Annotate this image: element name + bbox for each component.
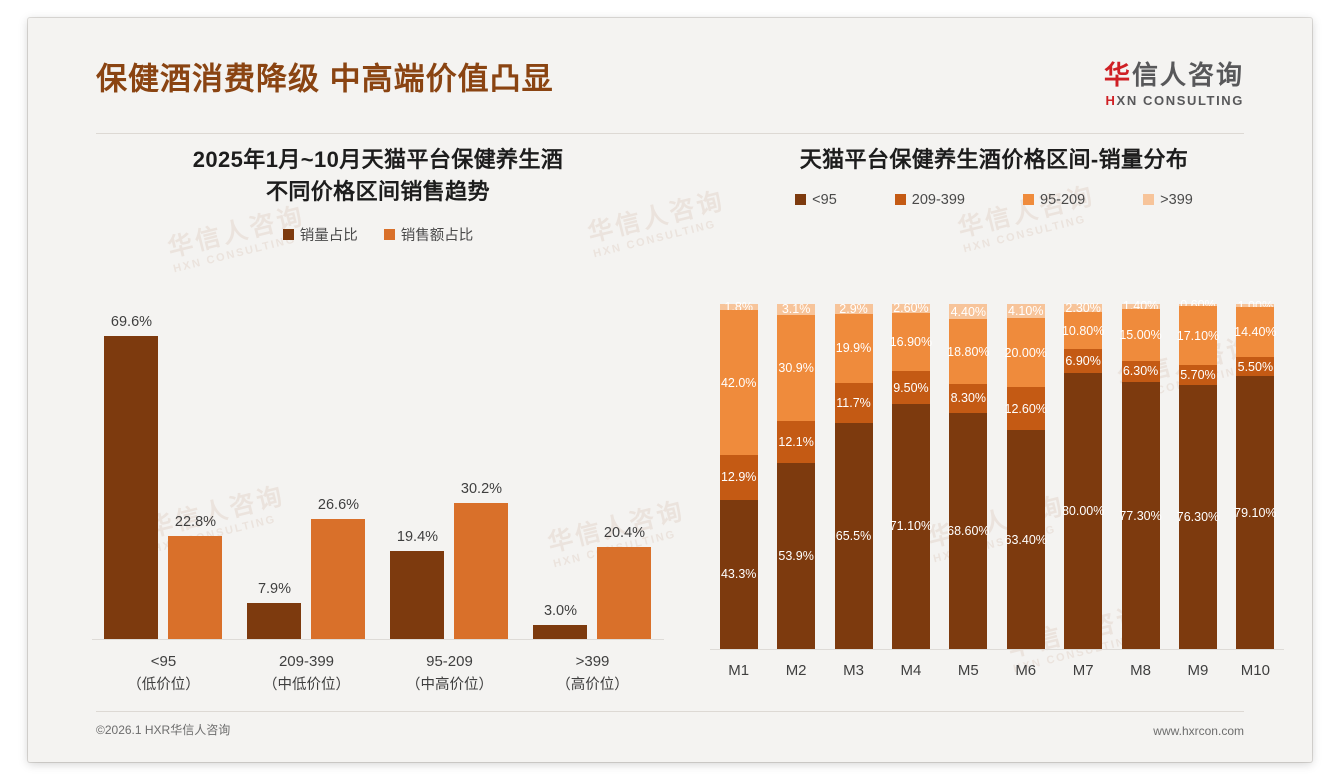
logo-chinese: 华信人咨询 [1104,62,1244,89]
x-axis-tick-label: M4 [882,662,939,704]
company-logo: 华信人咨询 HXN CONSULTING [1104,62,1244,108]
stacked-bar-segment[interactable]: 10.80% [1064,312,1102,349]
bar-column[interactable]: 3.0% [533,314,587,639]
logo-char-hua: 华 [1104,60,1132,90]
bar-value-label: 7.9% [258,581,291,597]
bar-column[interactable]: 26.6% [311,314,365,639]
stacked-bar-segment[interactable]: 9.50% [892,371,930,404]
stacked-bar[interactable]: 1.00%14.40%5.50%79.10% [1236,304,1274,649]
x-axis-tick-label: M9 [1169,662,1226,704]
bar-value-label: 20.4% [604,525,645,541]
stacked-bar-column[interactable]: 0.60%17.10%5.70%76.30% [1169,304,1226,649]
stacked-bar[interactable]: 4.40%18.80%8.30%68.60% [949,304,987,649]
legend-label: 销量占比 [300,224,358,245]
logo-chars-rest: 信人咨询 [1132,60,1244,90]
grouped-bar-chart: 69.6%22.8%7.9%26.6%19.4%30.2%3.0%20.4% <… [76,314,680,704]
stacked-bar-segment[interactable]: 71.10% [892,404,930,649]
stacked-bar-column[interactable]: 1.40%15.00%6.30%77.30% [1112,304,1169,649]
bar-value-label: 69.6% [111,314,152,330]
x-axis-tick-main: <95 [151,653,176,670]
stacked-bar-segment[interactable]: 63.40% [1007,430,1045,649]
bar-column[interactable]: 20.4% [597,314,651,639]
x-axis-tick-sub: （中低价位） [241,674,373,697]
stacked-bar-segment[interactable]: 5.50% [1236,357,1274,376]
bar-group: 19.4%30.2% [384,314,516,639]
legend-item[interactable]: 销量占比 [283,224,358,245]
stacked-bar-segment[interactable]: 12.60% [1007,387,1045,430]
legend-label: 销售额占比 [401,224,474,245]
stacked-bar-column[interactable]: 2.60%16.90%9.50%71.10% [882,304,939,649]
right-chart-title: 天猫平台保健养生酒价格区间-销量分布 [694,144,1294,176]
x-axis-tick-main: 209-399 [279,653,334,670]
left-chart-title: 2025年1月~10月天猫平台保健养生酒 不同价格区间销售趋势 [68,144,688,208]
legend-swatch-icon [1143,194,1154,205]
stacked-bar[interactable]: 3.1%30.9%12.1%53.9% [777,304,815,649]
stacked-bar-column[interactable]: 2.30%10.80%6.90%80.00% [1054,304,1111,649]
stacked-bar-x-axis: M1M2M3M4M5M6M7M8M9M10 [710,650,1284,704]
stacked-bar-segment[interactable]: 5.70% [1179,365,1217,385]
stacked-bar[interactable]: 2.60%16.90%9.50%71.10% [892,304,930,649]
bar-value-label: 22.8% [175,514,216,530]
bar-column[interactable]: 19.4% [390,314,444,639]
chart-panel-right: 天猫平台保健养生酒价格区间-销量分布 <95209-39995-209>399 … [694,144,1294,704]
bar-value-label: 19.4% [397,529,438,545]
bar-column[interactable]: 30.2% [454,314,508,639]
legend-swatch-icon [895,194,906,205]
x-axis-tick-label: M8 [1112,662,1169,704]
stacked-bar[interactable]: 2.30%10.80%6.90%80.00% [1064,304,1102,649]
stacked-bar-segment[interactable]: 76.30% [1179,385,1217,649]
x-axis-tick-label: M5 [940,662,997,704]
stacked-bar-segment[interactable]: 80.00% [1064,373,1102,649]
stacked-bar-segment[interactable]: 19.9% [835,314,873,383]
stacked-bar-chart: 1.8%42.0%12.9%43.3%3.1%30.9%12.1%53.9%2.… [704,304,1290,704]
stacked-bar-segment[interactable]: 65.5% [835,423,873,649]
stacked-bar-segment[interactable]: 14.40% [1236,307,1274,357]
stacked-bar-segment[interactable]: 4.40% [949,304,987,319]
x-axis-tick-label: 209-399（中低价位） [241,650,373,704]
bar[interactable] [597,547,651,639]
stacked-bar-segment[interactable]: 16.90% [892,313,930,371]
stacked-bar-segment[interactable]: 3.1% [777,304,815,315]
x-axis-tick-label: M1 [710,662,767,704]
footer-divider [96,711,1244,712]
stacked-bar-column[interactable]: 4.40%18.80%8.30%68.60% [940,304,997,649]
grouped-bar-plot-area: 69.6%22.8%7.9%26.6%19.4%30.2%3.0%20.4% [92,314,664,640]
bar-column[interactable]: 22.8% [168,314,222,639]
stacked-bar[interactable]: 2.9%19.9%11.7%65.5% [835,304,873,649]
bar-group: 69.6%22.8% [98,314,230,639]
bar-column[interactable]: 69.6% [104,314,158,639]
x-axis-tick-label: M10 [1227,662,1284,704]
footer-website: www.hxrcon.com [1153,724,1244,738]
stacked-bar-segment[interactable]: 15.00% [1122,309,1160,361]
x-axis-tick-sub: （中高价位） [384,674,516,697]
x-axis-tick-sub: （高价位） [527,674,659,697]
legend-item[interactable]: 销售额占比 [384,224,474,245]
x-axis-tick-main: 95-209 [426,653,473,670]
legend-label: >399 [1160,192,1193,208]
bar[interactable] [168,536,222,639]
header-divider [96,133,1244,134]
stacked-bar-segment[interactable]: 68.60% [949,413,987,649]
legend-swatch-icon [795,194,806,205]
bar-column[interactable]: 7.9% [247,314,301,639]
stacked-bar-segment[interactable]: 2.9% [835,304,873,314]
legend-label: 95-209 [1040,192,1085,208]
stacked-bar-column[interactable]: 1.8%42.0%12.9%43.3% [710,304,767,649]
stacked-bar-segment[interactable]: 6.30% [1122,361,1160,383]
x-axis-tick-sub: （低价位） [98,674,230,697]
x-axis-tick-label: M6 [997,662,1054,704]
legend-item[interactable]: <95 [795,192,837,208]
bar[interactable] [533,625,587,639]
stacked-bar-column[interactable]: 3.1%30.9%12.1%53.9% [767,304,824,649]
stacked-bar[interactable]: 4.10%20.00%12.60%63.40% [1007,304,1045,649]
logo-en-h: H [1106,93,1117,108]
x-axis-tick-main: >399 [576,653,610,670]
stacked-bar-segment[interactable]: 20.00% [1007,318,1045,387]
legend-swatch-icon [1023,194,1034,205]
slide-canvas: 保健酒消费降级 中高端价值凸显 华信人咨询 HXN CONSULTING 华信人… [28,18,1312,762]
left-chart-title-line1: 2025年1月~10月天猫平台保健养生酒 [68,144,688,176]
stacked-bar[interactable]: 0.60%17.10%5.70%76.30% [1179,304,1217,649]
logo-en-rest: XN CONSULTING [1117,93,1244,108]
x-axis-tick-label: M3 [825,662,882,704]
bar-group: 7.9%26.6% [241,314,373,639]
bar-group: 3.0%20.4% [527,314,659,639]
stacked-bar[interactable]: 1.40%15.00%6.30%77.30% [1122,304,1160,649]
bar-value-label: 26.6% [318,497,359,513]
x-axis-tick-label: 95-209（中高价位） [384,650,516,704]
footer-copyright: ©2026.1 HXR华信人咨询 [96,721,230,738]
bar[interactable] [390,551,444,639]
stacked-bar-segment[interactable]: 79.10% [1236,376,1274,649]
slide-header: 保健酒消费降级 中高端价值凸显 华信人咨询 HXN CONSULTING [28,18,1312,118]
right-chart-legend: <95209-39995-209>399 [694,192,1294,208]
stacked-bar-segment[interactable]: 12.1% [777,421,815,463]
logo-english: HXN CONSULTING [1104,93,1244,108]
stacked-bar-segment[interactable]: 6.90% [1064,349,1102,373]
bar[interactable] [247,603,301,639]
stacked-bar-column[interactable]: 1.00%14.40%5.50%79.10% [1227,304,1284,649]
stacked-bar-segment[interactable]: 2.60% [892,304,930,313]
stacked-bar-segment[interactable]: 18.80% [949,319,987,384]
x-axis-tick-label: M7 [1054,662,1111,704]
grouped-bar-x-axis: <95（低价位）209-399（中低价位）95-209（中高价位）>399（高价… [92,640,664,704]
stacked-bar-column[interactable]: 4.10%20.00%12.60%63.40% [997,304,1054,649]
legend-swatch-icon [384,229,395,240]
stacked-bar-segment[interactable]: 8.30% [949,384,987,413]
stacked-bar-column[interactable]: 2.9%19.9%11.7%65.5% [825,304,882,649]
chart-panel-left: 2025年1月~10月天猫平台保健养生酒 不同价格区间销售趋势 销量占比销售额占… [68,144,688,704]
left-chart-title-line2: 不同价格区间销售趋势 [68,176,688,208]
legend-item[interactable]: 209-399 [895,192,965,208]
legend-label: 209-399 [912,192,965,208]
stacked-bar-segment[interactable]: 17.10% [1179,306,1217,365]
x-axis-tick-label: <95（低价位） [98,650,230,704]
x-axis-tick-label: >399（高价位） [527,650,659,704]
stacked-bar[interactable]: 1.8%42.0%12.9%43.3% [720,304,758,649]
page-title: 保健酒消费降级 中高端价值凸显 [96,54,554,99]
left-chart-legend: 销量占比销售额占比 [68,224,688,245]
stacked-bar-segment[interactable]: 77.30% [1122,382,1160,649]
stacked-bar-segment[interactable]: 43.3% [720,500,758,649]
bar[interactable] [104,336,158,639]
bar[interactable] [311,519,365,639]
stacked-bar-segment[interactable]: 11.7% [835,383,873,423]
bar-value-label: 3.0% [544,603,577,619]
stacked-bar-segment[interactable]: 53.9% [777,463,815,649]
bar-value-label: 30.2% [461,481,502,497]
stacked-bar-plot-area: 1.8%42.0%12.9%43.3%3.1%30.9%12.1%53.9%2.… [710,304,1284,650]
legend-item[interactable]: >399 [1143,192,1193,208]
legend-label: <95 [812,192,837,208]
stacked-bar-segment[interactable]: 4.10% [1007,304,1045,318]
bar[interactable] [454,503,508,639]
legend-item[interactable]: 95-209 [1023,192,1085,208]
legend-swatch-icon [283,229,294,240]
stacked-bar-segment[interactable]: 30.9% [777,315,815,422]
stacked-bar-segment[interactable]: 2.30% [1064,304,1102,312]
stacked-bar-segment[interactable]: 12.9% [720,455,758,500]
x-axis-tick-label: M2 [767,662,824,704]
stacked-bar-segment[interactable]: 42.0% [720,310,758,455]
